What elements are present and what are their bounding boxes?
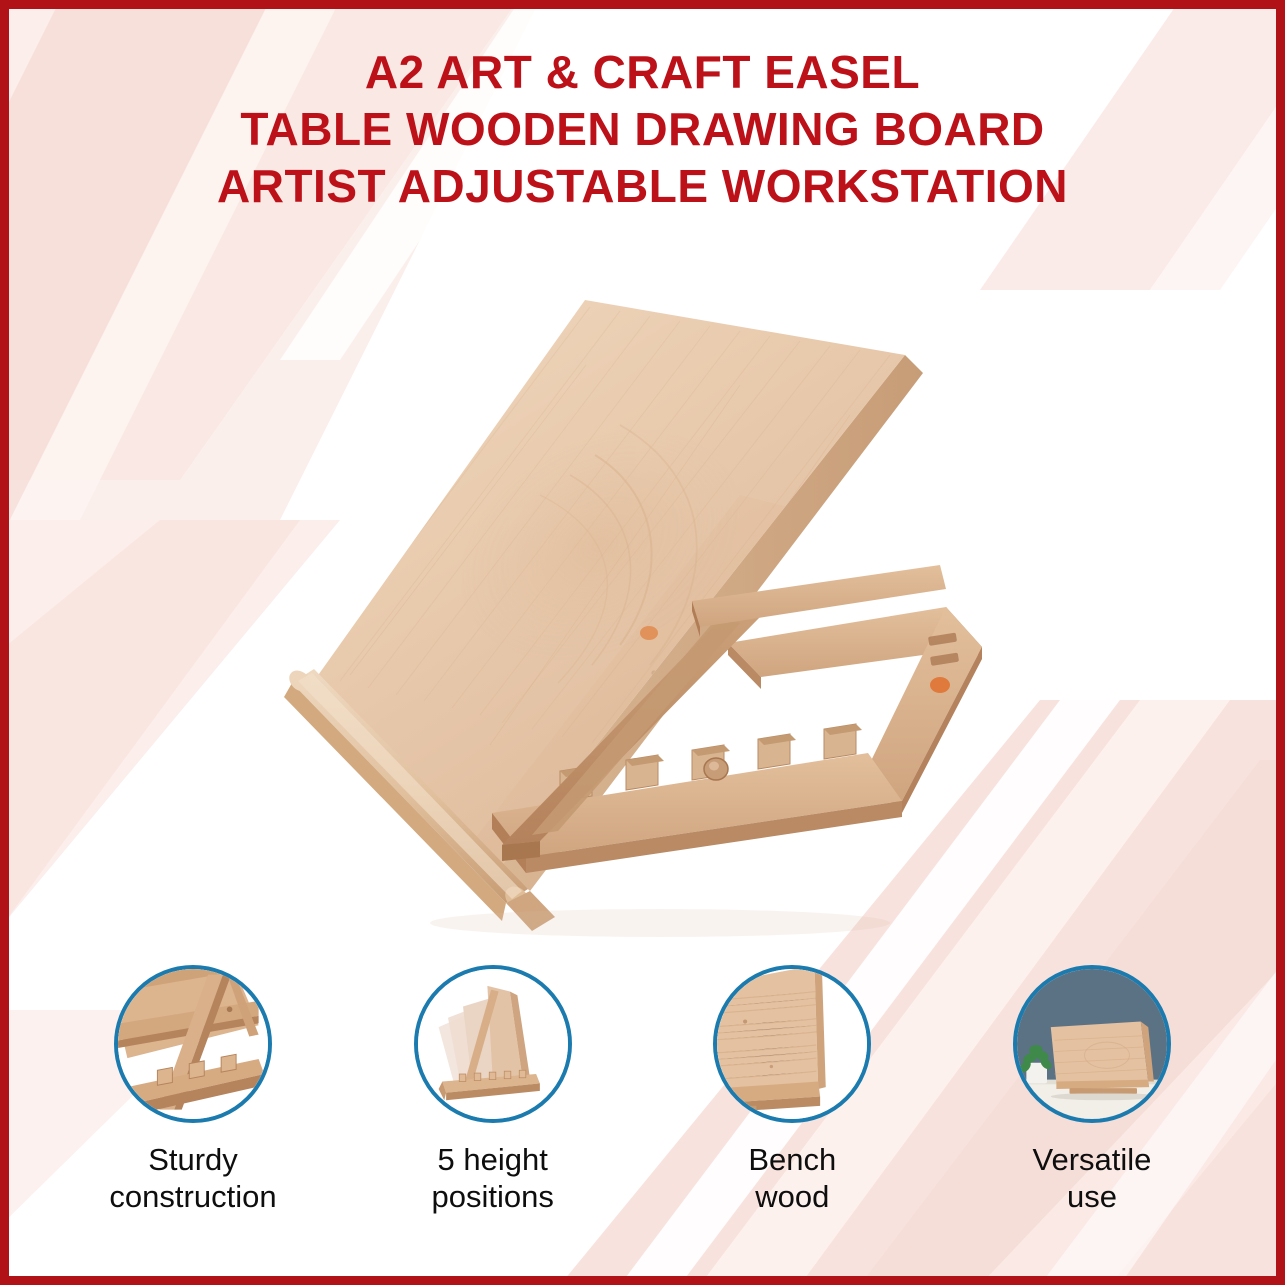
feature-item: Versatile use — [977, 965, 1207, 1265]
wood-grain-icon — [717, 969, 867, 1119]
feature-caption: Bench wood — [748, 1141, 836, 1215]
rubber-foot-left — [640, 626, 658, 640]
feature-circle-versatile-use — [1013, 965, 1171, 1123]
title-line-2: TABLE WOODEN DRAWING BOARD — [0, 101, 1285, 158]
ground-shadow — [430, 909, 890, 937]
easel-illustration — [240, 245, 1070, 945]
product-listing-image: A2 ART & CRAFT EASEL TABLE WOODEN DRAWIN… — [0, 0, 1285, 1285]
feature-item: 5 height positions — [378, 965, 608, 1265]
title-line-3: ARTIST ADJUSTABLE WORKSTATION — [0, 158, 1285, 215]
feature-caption: 5 height positions — [431, 1141, 553, 1215]
feature-circle-bench-wood — [713, 965, 871, 1123]
title-line-1: A2 ART & CRAFT EASEL — [0, 44, 1285, 101]
feature-item: Sturdy construction — [78, 965, 308, 1265]
feature-circle-sturdy-construction — [114, 965, 272, 1123]
page-title: A2 ART & CRAFT EASEL TABLE WOODEN DRAWIN… — [0, 44, 1285, 215]
easel-frame-closeup-icon — [118, 969, 268, 1119]
hero-product-image — [240, 245, 1070, 945]
rubber-foot-right — [930, 677, 950, 693]
feature-item: Bench wood — [677, 965, 907, 1265]
feature-caption: Versatile use — [1033, 1141, 1152, 1215]
easel-in-room-icon — [1017, 969, 1167, 1119]
feature-caption: Sturdy construction — [109, 1141, 276, 1215]
easel-angles-icon — [418, 969, 568, 1119]
feature-strip: Sturdy construction — [0, 965, 1285, 1265]
feature-circle-height-positions — [414, 965, 572, 1123]
